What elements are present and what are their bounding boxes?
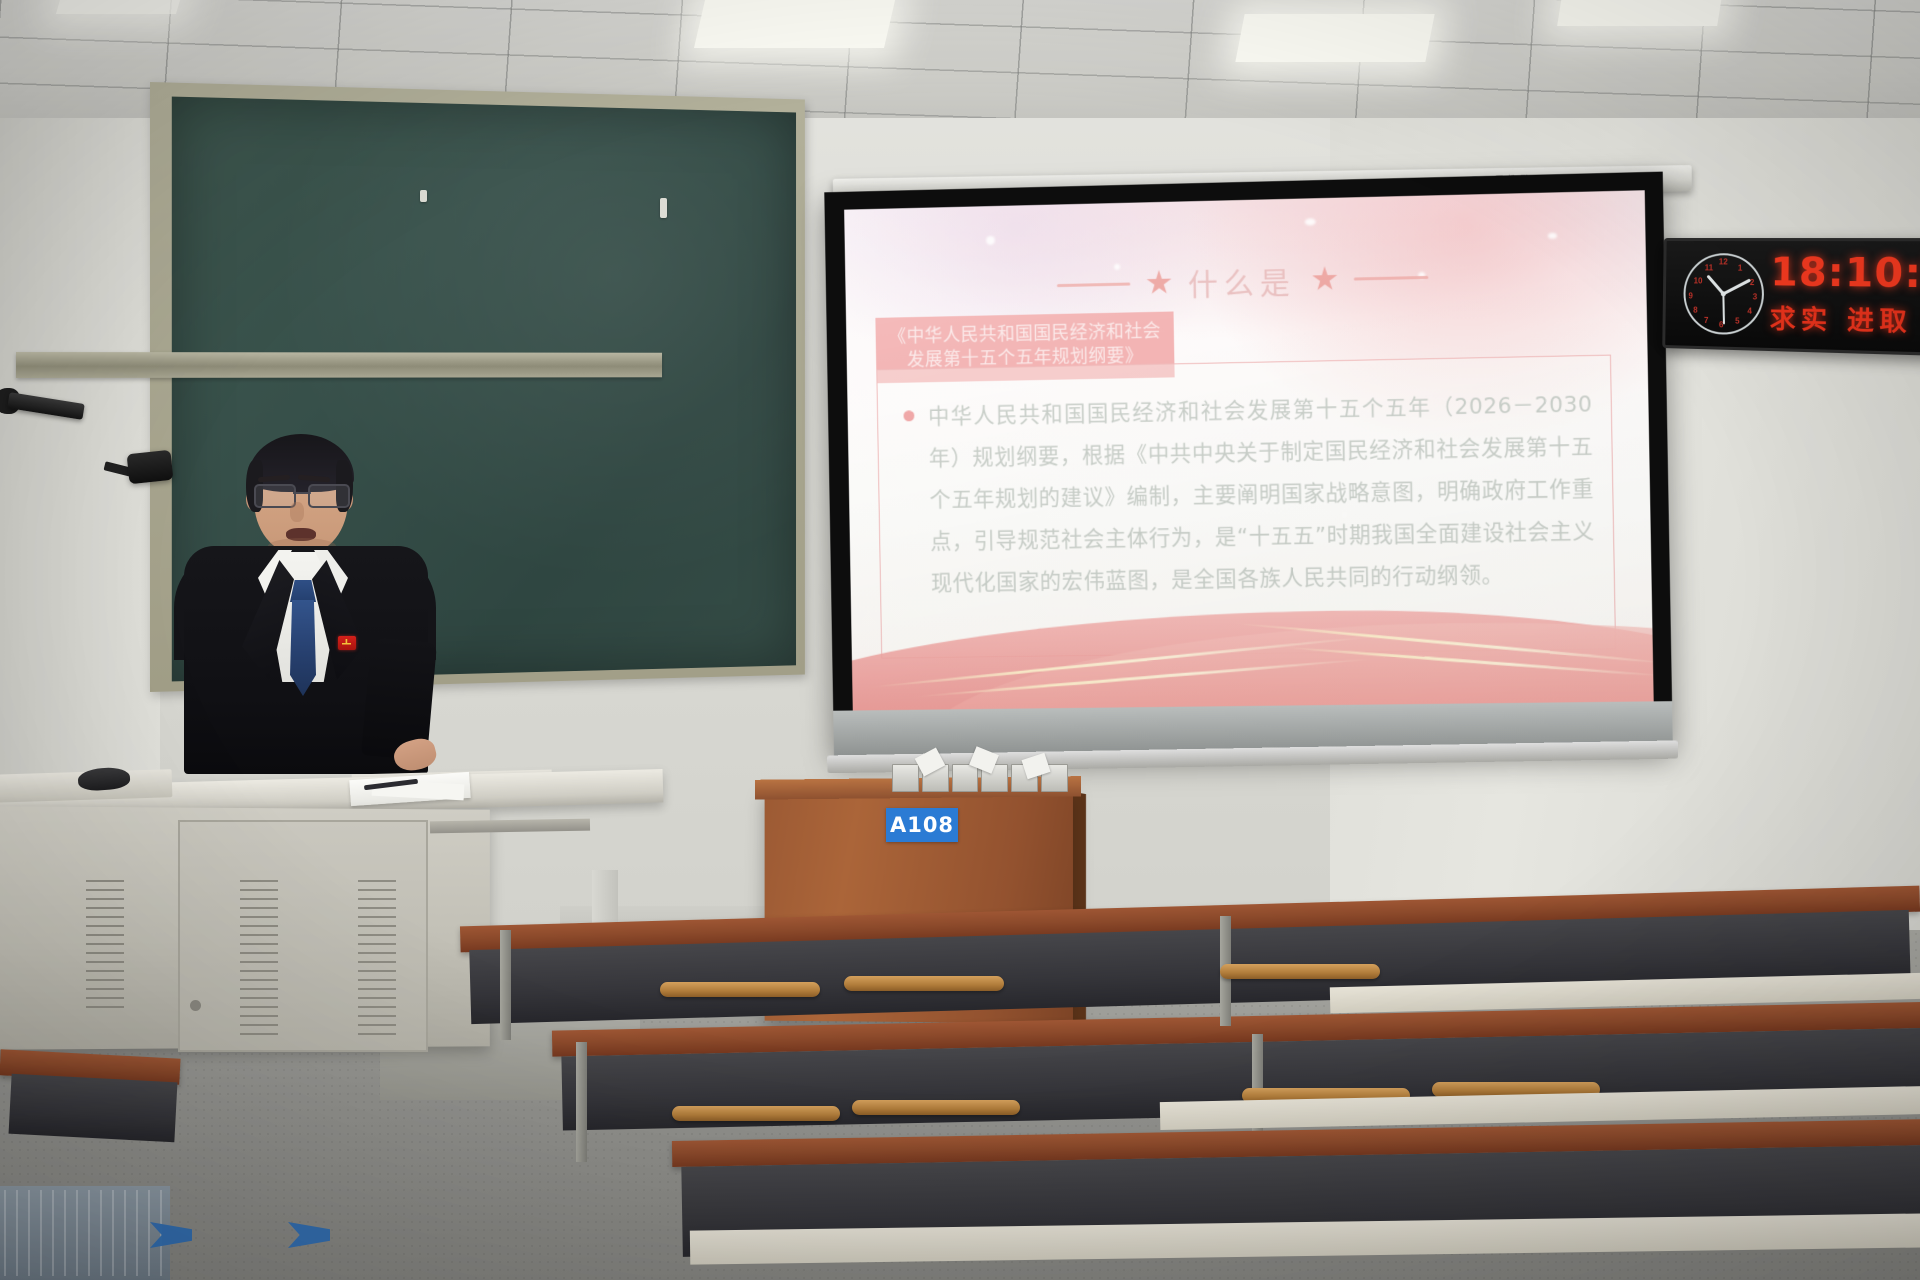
- star-icon: [1146, 270, 1172, 297]
- clock-number: 5: [1735, 316, 1740, 325]
- digital-wall-clock: 12 1 2 3 4 5 6 7 8 9 10 11 18:10:52 求实 进…: [1662, 238, 1920, 357]
- projection-screen: 什么是 《中华人民共和国国民经济和社会发展第十五个五年规划纲要》 中华人民共和国…: [824, 172, 1673, 757]
- slide-decorative-waves: [851, 580, 1654, 710]
- bullet-dot-icon: [903, 410, 914, 421]
- clock-time-display: 18:10:52: [1770, 249, 1920, 297]
- clock-number: 3: [1753, 292, 1758, 301]
- wall-speaker-icon: [127, 450, 174, 484]
- ceiling-light-panel: [694, 0, 896, 48]
- desk-front-panel: [9, 1074, 178, 1143]
- folding-seat[interactable]: [660, 982, 820, 997]
- bullet-paragraph: 中华人民共和国国民经济和社会发展第十五个五年（2026－2030年）规划纲要，根…: [928, 384, 1596, 605]
- clock-second-hand: [1722, 294, 1725, 324]
- grate-slats: [4, 1190, 166, 1276]
- clock-number: 7: [1704, 316, 1709, 325]
- cabinet-vent: [86, 880, 124, 1010]
- clock-motto-display: 求实 进取 创: [1770, 299, 1920, 341]
- lapel-pin-icon: [338, 636, 356, 650]
- eyeglasses-icon: [253, 484, 351, 504]
- folding-seat[interactable]: [1220, 964, 1380, 979]
- cabinet-vent: [240, 880, 278, 1040]
- clock-number: 9: [1688, 291, 1693, 300]
- cabinet-vent: [358, 880, 396, 1040]
- clock-number: 12: [1719, 257, 1728, 266]
- equipment-unit: [952, 764, 979, 792]
- folding-seat[interactable]: [852, 1100, 1020, 1115]
- nose: [290, 502, 304, 522]
- pin-emblem-icon: [342, 639, 351, 647]
- bullet-item: 中华人民共和国国民经济和社会发展第十五个五年（2026－2030年）规划纲要，根…: [903, 384, 1596, 605]
- classroom-scene: 工 正 投 影 什么是 《中华人民共和国国: [0, 0, 1920, 1280]
- projected-slide-area: 什么是 《中华人民共和国国民经济和社会发展第十五个五年规划纲要》 中华人民共和国…: [844, 190, 1654, 710]
- desk-leg: [576, 1042, 587, 1162]
- clock-number: 4: [1747, 306, 1752, 315]
- ceiling-light-panel: [1557, 0, 1723, 26]
- folding-seat[interactable]: [672, 1106, 840, 1121]
- star-icon: [1312, 266, 1339, 293]
- presenter: [180, 440, 430, 770]
- clock-number: 1: [1738, 263, 1743, 272]
- board-clip: [660, 198, 667, 218]
- desk-leg: [500, 930, 511, 1040]
- clock-center-hub: [1721, 291, 1726, 296]
- room-number-sign: A108: [886, 808, 958, 842]
- lens: [308, 484, 350, 508]
- header-rule-right: [1354, 275, 1428, 280]
- clock-number: 11: [1705, 263, 1714, 272]
- chalk-rail: [16, 352, 662, 378]
- clock-minute-hand: [1723, 278, 1751, 295]
- folding-seat[interactable]: [844, 976, 1004, 991]
- analog-clock-face-icon: 12 1 2 3 4 5 6 7 8 9 10 11: [1683, 253, 1765, 335]
- presentation-slide: 什么是 《中华人民共和国国民经济和社会发展第十五个五年规划纲要》 中华人民共和国…: [844, 190, 1654, 710]
- header-rule-left: [1057, 282, 1130, 287]
- cabinet-latch[interactable]: [190, 1000, 201, 1011]
- clock-number: 10: [1694, 276, 1703, 285]
- equipment-unit: [892, 764, 919, 792]
- board-clip: [420, 190, 427, 202]
- slide-header-title: 什么是: [1188, 258, 1297, 304]
- ceiling-light-panel: [1235, 14, 1434, 62]
- ceiling-light-panel: [56, 0, 184, 14]
- clock-number: 8: [1693, 306, 1698, 315]
- floor-grate: [0, 1186, 170, 1280]
- lens: [254, 484, 296, 508]
